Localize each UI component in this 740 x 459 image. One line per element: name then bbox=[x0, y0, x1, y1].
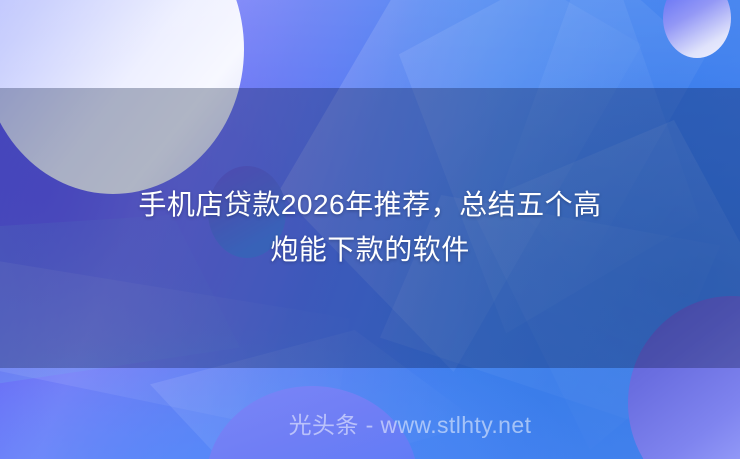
headline-line-1: 手机店贷款2026年推荐，总结五个高 bbox=[26, 182, 714, 227]
headline-line-2: 炮能下款的软件 bbox=[26, 227, 714, 272]
poster-canvas: 手机店贷款2026年推荐，总结五个高 炮能下款的软件 光头条 - www.stl… bbox=[0, 0, 740, 459]
brightness-band-top bbox=[0, 0, 740, 88]
site-watermark: 光头条 - www.stlhty.net bbox=[0, 406, 740, 440]
poster-headline: 手机店贷款2026年推荐，总结五个高 炮能下款的软件 bbox=[0, 182, 740, 272]
